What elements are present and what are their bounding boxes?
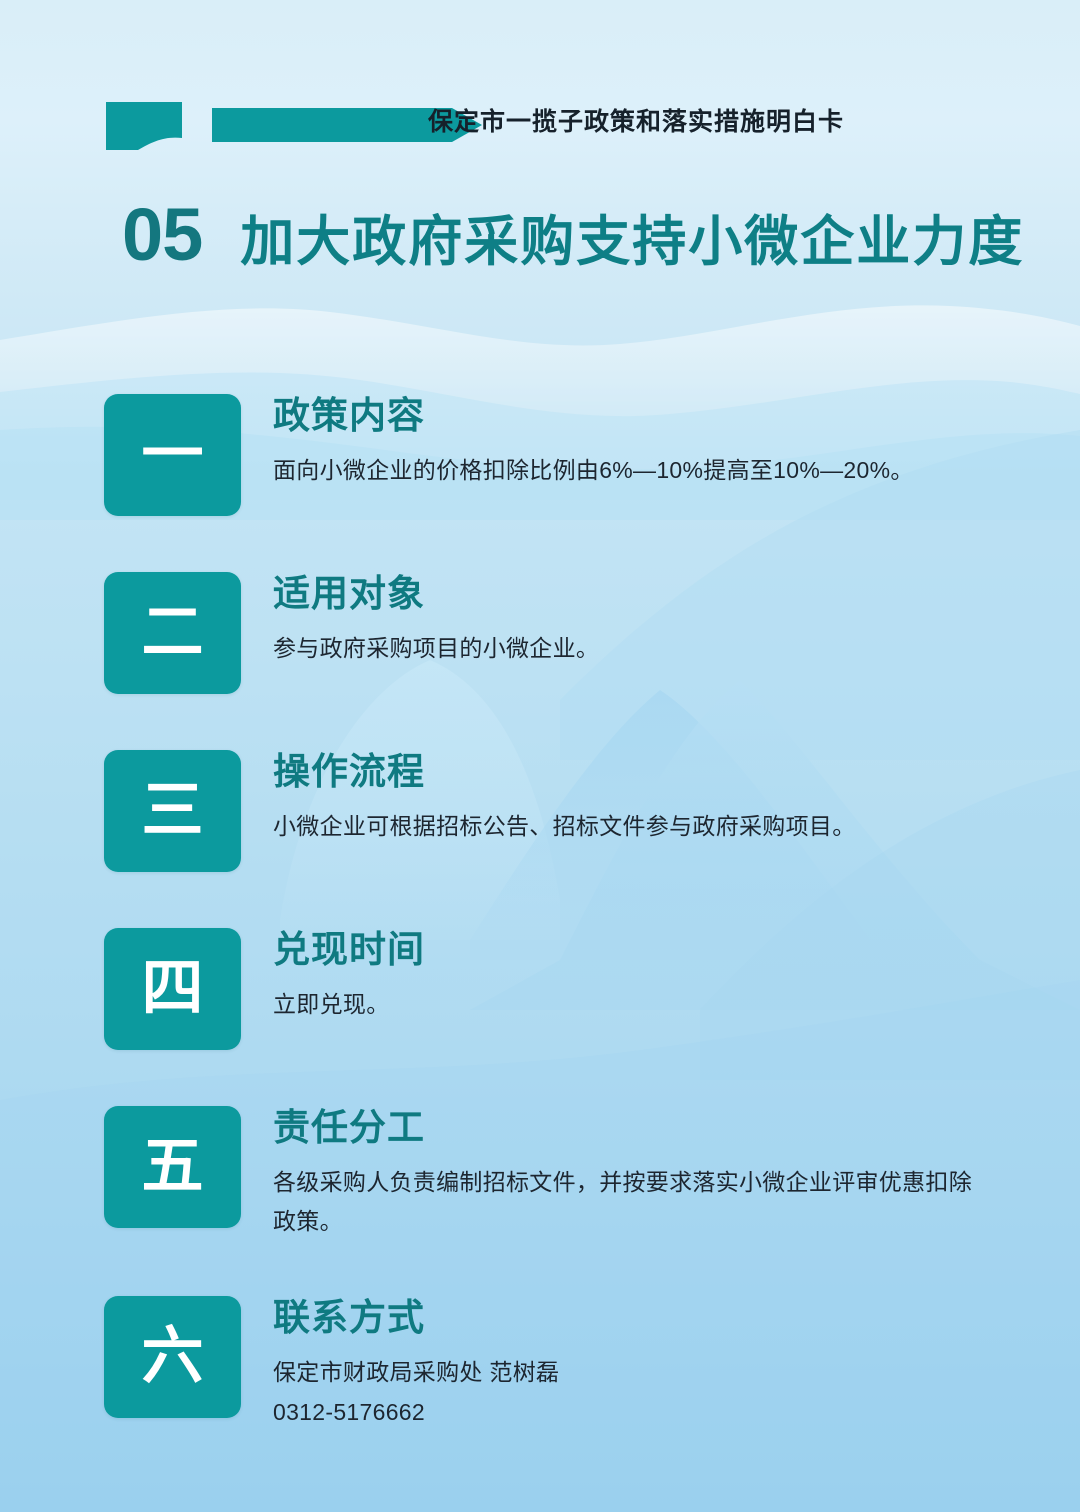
contact-phone: 0312-5176662 bbox=[273, 1394, 1013, 1431]
page-title-text: 加大政府采购支持小微企业力度 bbox=[240, 215, 1024, 269]
section-text-line: 政策。 bbox=[273, 1203, 1013, 1240]
section-body-2: 适用对象 参与政府采购项目的小微企业。 bbox=[241, 572, 1024, 667]
section-badge-3: 三 bbox=[104, 750, 241, 872]
section-body-3: 操作流程 小微企业可根据招标公告、招标文件参与政府采购项目。 bbox=[241, 750, 1024, 845]
section-text-3: 小微企业可根据招标公告、招标文件参与政府采购项目。 bbox=[273, 808, 1013, 845]
section-item: 二 适用对象 参与政府采购项目的小微企业。 bbox=[104, 572, 1024, 694]
section-badge-1: 一 bbox=[104, 394, 241, 516]
section-body-4: 兑现时间 立即兑现。 bbox=[241, 928, 1024, 1023]
section-text-1: 面向小微企业的价格扣除比例由6%—10%提高至10%—20%。 bbox=[273, 452, 1013, 489]
section-heading-6: 联系方式 bbox=[273, 1298, 1024, 1338]
section-text-line: 各级采购人负责编制招标文件，并按要求落实小微企业评审优惠扣除 bbox=[273, 1164, 1013, 1201]
section-heading-3: 操作流程 bbox=[273, 752, 1024, 792]
page-title: 05 加大政府采购支持小微企业力度 bbox=[122, 198, 1024, 272]
section-item: 三 操作流程 小微企业可根据招标公告、招标文件参与政府采购项目。 bbox=[104, 750, 1024, 872]
section-text-line: 立即兑现。 bbox=[273, 986, 1013, 1023]
section-item: 六 联系方式 保定市财政局采购处 范树磊 0312-5176662 bbox=[104, 1296, 1024, 1430]
section-badge-5: 五 bbox=[104, 1106, 241, 1228]
section-heading-1: 政策内容 bbox=[273, 396, 1024, 436]
section-text-4: 立即兑现。 bbox=[273, 986, 1013, 1023]
header: 保定市一揽子政策和落实措施明白卡 bbox=[0, 96, 1080, 156]
section-text-5: 各级采购人负责编制招标文件，并按要求落实小微企业评审优惠扣除 政策。 bbox=[273, 1164, 1013, 1241]
contact-person: 保定市财政局采购处 范树磊 bbox=[273, 1354, 1013, 1391]
section-item: 一 政策内容 面向小微企业的价格扣除比例由6%—10%提高至10%—20%。 bbox=[104, 394, 1024, 516]
section-text-line: 面向小微企业的价格扣除比例由6%—10%提高至10%—20%。 bbox=[273, 452, 1013, 489]
section-text-line: 小微企业可根据招标公告、招标文件参与政府采购项目。 bbox=[273, 808, 1013, 845]
section-item: 五 责任分工 各级采购人负责编制招标文件，并按要求落实小微企业评审优惠扣除 政策… bbox=[104, 1106, 1024, 1240]
section-text-6: 保定市财政局采购处 范树磊 0312-5176662 bbox=[273, 1354, 1013, 1431]
section-body-6: 联系方式 保定市财政局采购处 范树磊 0312-5176662 bbox=[241, 1296, 1024, 1430]
section-text-2: 参与政府采购项目的小微企业。 bbox=[273, 630, 1013, 667]
section-body-1: 政策内容 面向小微企业的价格扣除比例由6%—10%提高至10%—20%。 bbox=[241, 394, 1024, 489]
policy-sections: 一 政策内容 面向小微企业的价格扣除比例由6%—10%提高至10%—20%。 二… bbox=[104, 394, 1024, 1487]
section-badge-6: 六 bbox=[104, 1296, 241, 1418]
header-title: 保定市一揽子政策和落实措施明白卡 bbox=[0, 102, 1080, 138]
section-heading-2: 适用对象 bbox=[273, 574, 1024, 614]
section-heading-4: 兑现时间 bbox=[273, 930, 1024, 970]
section-item: 四 兑现时间 立即兑现。 bbox=[104, 928, 1024, 1050]
section-badge-2: 二 bbox=[104, 572, 241, 694]
section-heading-5: 责任分工 bbox=[273, 1108, 1024, 1148]
page-title-number: 05 bbox=[122, 198, 202, 272]
section-badge-4: 四 bbox=[104, 928, 241, 1050]
section-text-line: 参与政府采购项目的小微企业。 bbox=[273, 630, 1013, 667]
section-body-5: 责任分工 各级采购人负责编制招标文件，并按要求落实小微企业评审优惠扣除 政策。 bbox=[241, 1106, 1024, 1240]
policy-card-page: 保定市一揽子政策和落实措施明白卡 05 加大政府采购支持小微企业力度 一 政策内… bbox=[0, 0, 1080, 1512]
